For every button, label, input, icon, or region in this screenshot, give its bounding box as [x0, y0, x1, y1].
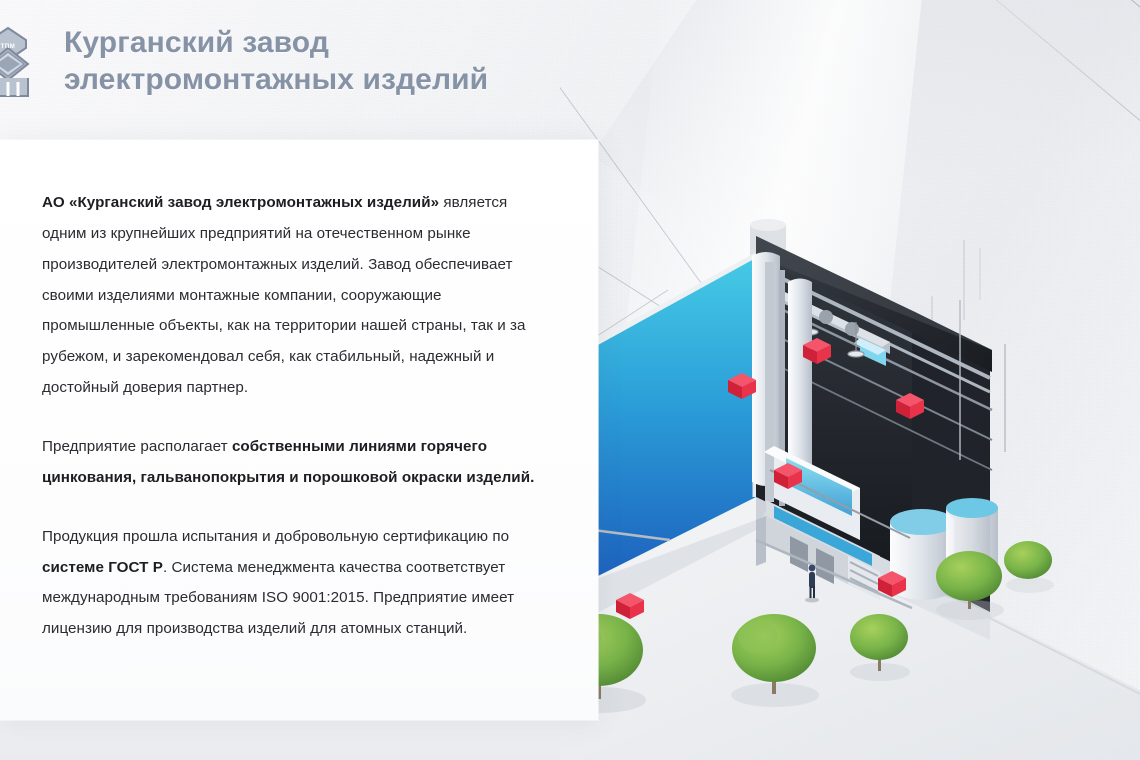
tree	[1004, 541, 1054, 593]
company-logo-icon: ТПМ	[0, 26, 46, 98]
title-line-2: электромонтажных изделий	[64, 62, 488, 99]
tree	[936, 551, 1004, 620]
text-run: является одним из крупнейших предприятий…	[42, 194, 526, 396]
svg-text:ТПМ: ТПМ	[1, 44, 15, 50]
paragraph-company-intro: АО «Курганский завод электромонтажных из…	[42, 188, 552, 404]
text-run: Предприятие располагает	[42, 438, 232, 455]
page-title: Курганский завод электромонтажных издели…	[64, 25, 488, 98]
slide-root: ТПМ Курганский завод электромонтажных из…	[0, 0, 1140, 760]
page-header: ТПМ Курганский завод электромонтажных из…	[0, 0, 640, 124]
title-line-1: Курганский завод	[64, 25, 488, 62]
tree	[731, 614, 819, 707]
tree	[850, 614, 910, 681]
text-run: Продукция прошла испытания и добровольну…	[42, 528, 509, 545]
content-card: АО «Курганский завод электромонтажных из…	[0, 140, 598, 720]
text-run-bold: АО «Курганский завод электромонтажных из…	[42, 194, 439, 211]
paragraph-certification: Продукция прошла испытания и добровольну…	[42, 522, 552, 645]
factory-illustration	[560, 0, 1140, 760]
text-run-bold: системе ГОСТ Р	[42, 559, 163, 576]
paragraph-production-lines: Предприятие располагает собственными лин…	[42, 432, 552, 494]
